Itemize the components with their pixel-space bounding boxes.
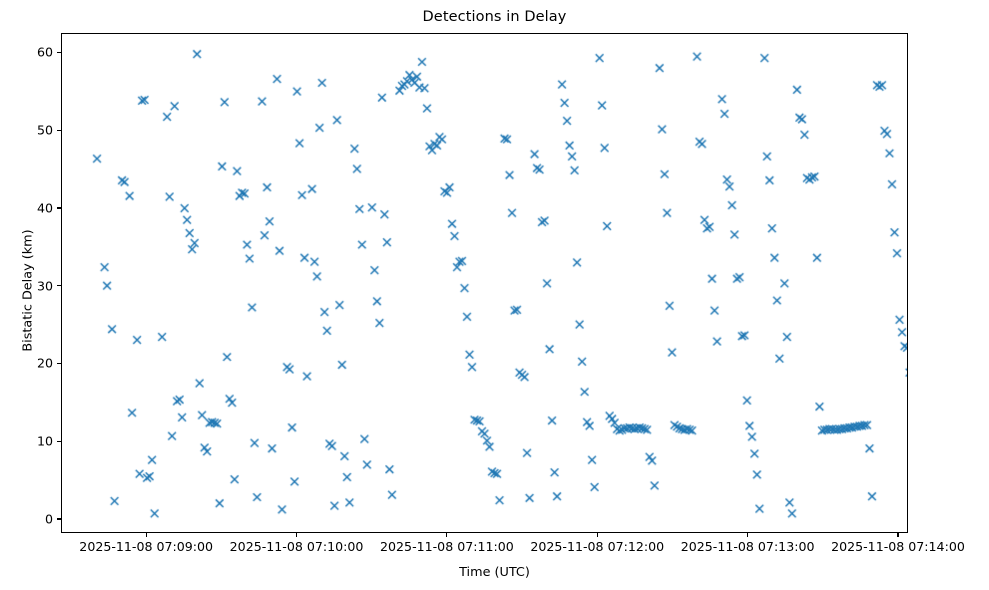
x-tick-mark bbox=[747, 533, 748, 537]
x-axis-label: Time (UTC) bbox=[0, 565, 989, 580]
x-tick-label: 2025-11-08 07:10:00 bbox=[230, 539, 364, 554]
plot-axes bbox=[61, 33, 908, 533]
y-axis-label: Bistatic Delay (km) bbox=[21, 141, 36, 441]
x-tick-label: 2025-11-08 07:13:00 bbox=[681, 539, 815, 554]
x-tick-mark bbox=[897, 533, 898, 537]
x-tick-label: 2025-11-08 07:09:00 bbox=[79, 539, 213, 554]
x-tick-mark bbox=[296, 533, 297, 537]
x-tick-label: 2025-11-08 07:14:00 bbox=[831, 539, 965, 554]
matplotlib-figure: Detections in Delay 0102030405060 2025-1… bbox=[0, 0, 989, 590]
scatter-plot-canvas bbox=[62, 34, 907, 532]
x-tick-mark bbox=[146, 533, 147, 537]
x-tick-mark bbox=[597, 533, 598, 537]
chart-title: Detections in Delay bbox=[0, 9, 989, 25]
x-tick-label: 2025-11-08 07:12:00 bbox=[530, 539, 664, 554]
y-tick-label: 0 bbox=[9, 512, 53, 527]
x-tick-label: 2025-11-08 07:11:00 bbox=[380, 539, 514, 554]
y-tick-label: 60 bbox=[9, 45, 53, 60]
y-tick-label: 50 bbox=[9, 123, 53, 138]
x-tick-mark bbox=[446, 533, 447, 537]
